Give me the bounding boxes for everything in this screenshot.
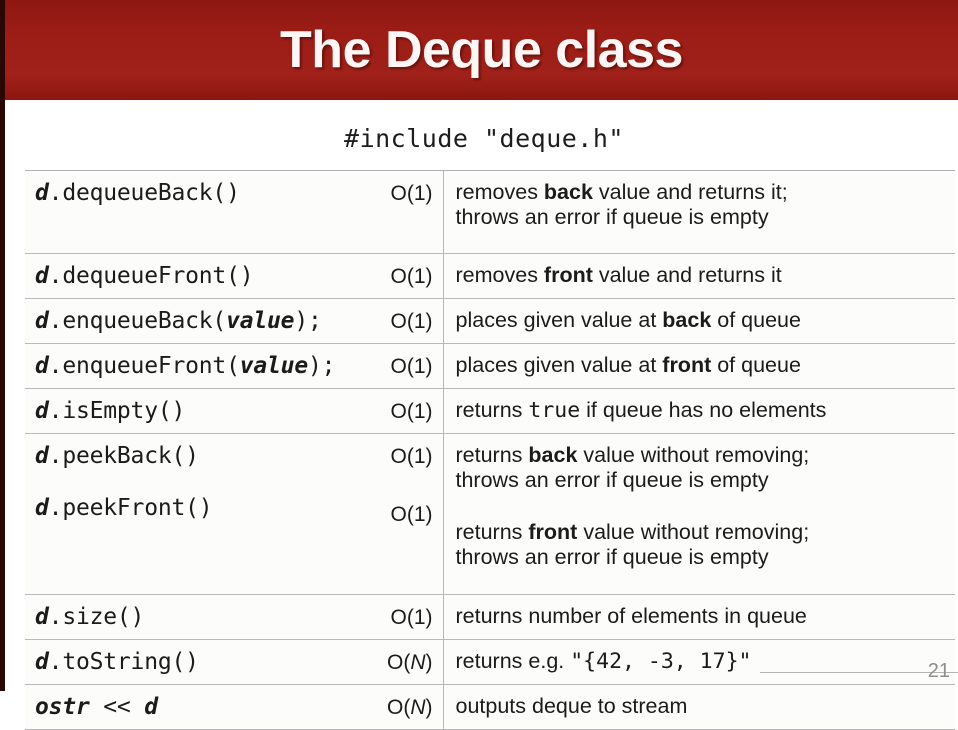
description-first: returns back value without removing;thro…: [456, 443, 950, 494]
complexity-arg: 1: [414, 606, 426, 629]
desc-text: returns: [456, 398, 529, 422]
complexity-arg: 1: [414, 503, 426, 526]
method-signature-cell: d.dequeueFront(): [25, 254, 355, 299]
complexity-cell: O(1): [355, 171, 443, 254]
member-separator: .: [49, 353, 63, 379]
complexity-suffix: ): [426, 310, 433, 333]
description-cell: returns e.g. "{42, -3, 17}": [443, 640, 955, 685]
desc-second-line: throws an error if queue is empty: [456, 205, 769, 229]
member-separator: .: [49, 649, 63, 675]
complexity-arg: 1: [414, 265, 426, 288]
member-name: size(): [62, 604, 144, 630]
member-name: enqueueFront(: [62, 353, 239, 379]
complexity-suffix: ): [426, 265, 433, 288]
complexity-prefix: O(: [387, 696, 410, 719]
desc-text-tail: if queue has no elements: [580, 398, 826, 422]
table-row: d.peekBack() d.peekFront() O(1) O(1) ret…: [25, 434, 955, 595]
table-row: d.enqueueBack(value); O(1) places given …: [25, 299, 955, 344]
receiver-name: d: [35, 353, 49, 379]
description-cell: returns true if queue has no elements: [443, 389, 955, 434]
description-second: returns front value without removing;thr…: [456, 520, 950, 571]
desc-text: removes: [456, 263, 544, 287]
table-body: d.dequeueBack() O(1) removes back value …: [25, 171, 955, 730]
method-signature-cell: d.size(): [25, 595, 355, 640]
table-row: d.isEmpty() O(1) returns true if queue h…: [25, 389, 955, 434]
complexity-arg: 1: [414, 400, 426, 423]
receiver-name: d: [35, 398, 49, 424]
table-row: d.toString() O(N) returns e.g. "{42, -3,…: [25, 640, 955, 685]
member-name: isEmpty(): [62, 398, 185, 424]
complexity-cell: O(1): [355, 299, 443, 344]
member-separator: .: [49, 263, 63, 289]
method-signature-cell: d.isEmpty(): [25, 389, 355, 434]
method-signature-cell: d.dequeueBack(): [25, 171, 355, 254]
description-cell: outputs deque to stream: [443, 685, 955, 730]
complexity-prefix: O(: [390, 310, 413, 333]
complexity-suffix: ): [426, 400, 433, 423]
desc-text-tail: value and returns it: [593, 263, 782, 287]
description-cell: removes front value and returns it: [443, 254, 955, 299]
method-signature-cell: d.enqueueBack(value);: [25, 299, 355, 344]
member-name: dequeueBack(): [62, 180, 239, 206]
desc-text: returns number of elements in queue: [456, 604, 807, 628]
include-directive: #include "deque.h": [5, 124, 958, 153]
description-gap: [456, 494, 950, 520]
description-cell: returns number of elements in queue: [443, 595, 955, 640]
member-name-tail: );: [308, 353, 335, 379]
desc-emphasis: back: [662, 308, 711, 332]
description-cell: places given value at back of queue: [443, 299, 955, 344]
desc-text: returns: [456, 443, 529, 467]
table-row: ostr << d O(N) outputs deque to stream: [25, 685, 955, 730]
desc-emphasis: front: [544, 263, 593, 287]
complexity-arg: 1: [414, 182, 426, 205]
description-cell: returns back value without removing;thro…: [443, 434, 955, 595]
member-name: toString(): [62, 649, 198, 675]
receiver-name: d: [35, 443, 49, 469]
method-signature-cell: ostr << d: [25, 685, 355, 730]
slide-content-area: #include "deque.h" d.dequeueBack() O(1) …: [0, 100, 958, 691]
desc-text: returns e.g.: [456, 649, 571, 673]
desc-second-line: throws an error if queue is empty: [456, 468, 769, 492]
member-separator: .: [49, 604, 63, 630]
receiver-name: d: [35, 604, 49, 630]
complexity-arg: 1: [414, 445, 426, 468]
complexity-arg: N: [410, 696, 425, 719]
member-separator: .: [49, 180, 63, 206]
receiver-name: ostr: [35, 694, 90, 720]
page-title: The Deque class: [280, 24, 683, 76]
receiver-name: d: [35, 263, 49, 289]
member-name: dequeueFront(): [62, 263, 253, 289]
desc-emphasis: front: [528, 520, 577, 544]
description-cell: removes back value and returns it;throws…: [443, 171, 955, 254]
receiver-name: d: [35, 649, 49, 675]
complexity-prefix: O(: [390, 182, 413, 205]
desc-emphasis: front: [662, 353, 711, 377]
parameter-name: value: [240, 353, 308, 379]
complexity-prefix: O(: [387, 651, 410, 674]
complexity-suffix: ): [426, 696, 433, 719]
desc-text-tail: of queue: [711, 353, 801, 377]
desc-emphasis: back: [528, 443, 577, 467]
method-signature-second: d.peekFront(): [35, 495, 355, 521]
parameter-name: value: [226, 308, 294, 334]
complexity-cell: O(1): [355, 254, 443, 299]
stream-operator: <<: [90, 694, 145, 720]
method-signature-cell: d.peekBack() d.peekFront(): [25, 434, 355, 595]
complexity-arg: 1: [414, 355, 426, 378]
complexity-cell: O(1): [355, 595, 443, 640]
table-row: d.enqueueFront(value); O(1) places given…: [25, 344, 955, 389]
description-cell: places given value at front of queue: [443, 344, 955, 389]
complexity-suffix: ): [426, 182, 433, 205]
complexity-first: O(1): [355, 445, 433, 469]
complexity-second: O(1): [355, 503, 433, 527]
desc-code-literal: true: [528, 398, 580, 423]
desc-code-literal: "{42, -3, 17}": [570, 649, 751, 674]
desc-text: returns: [456, 520, 529, 544]
complexity-suffix: ): [426, 503, 433, 526]
desc-text: outputs deque to stream: [456, 694, 688, 718]
complexity-arg: N: [410, 651, 425, 674]
complexity-cell: O(N): [355, 685, 443, 730]
complexity-prefix: O(: [390, 265, 413, 288]
receiver-name: d: [35, 308, 49, 334]
complexity-prefix: O(: [390, 445, 413, 468]
receiver-name: d: [35, 180, 49, 206]
complexity-prefix: O(: [390, 355, 413, 378]
desc-text-tail: of queue: [711, 308, 801, 332]
member-name: enqueueBack(: [62, 308, 226, 334]
method-signature-first: d.peekBack(): [35, 443, 355, 469]
member-name: peekBack(): [62, 443, 198, 469]
complexity-cell: O(1) O(1): [355, 434, 443, 595]
table-row: d.dequeueFront() O(1) removes front valu…: [25, 254, 955, 299]
complexity-prefix: O(: [390, 400, 413, 423]
signature-gap: [35, 469, 355, 495]
complexity-cell: O(1): [355, 344, 443, 389]
complexity-arg: 1: [414, 310, 426, 333]
desc-emphasis: back: [544, 180, 593, 204]
method-signature-cell: d.toString(): [25, 640, 355, 685]
desc-text: places given value at: [456, 353, 663, 377]
complexity-suffix: ): [426, 651, 433, 674]
deque-api-table: d.dequeueBack() O(1) removes back value …: [25, 170, 955, 730]
table-row: d.size() O(1) returns number of elements…: [25, 595, 955, 640]
member-separator: .: [49, 308, 63, 334]
member-name-tail: );: [294, 308, 321, 334]
complexity-suffix: ): [426, 355, 433, 378]
complexity-gap: [355, 469, 433, 503]
desc-text: removes: [456, 180, 544, 204]
desc-second-line: throws an error if queue is empty: [456, 545, 769, 569]
operand-name: d: [144, 694, 158, 720]
complexity-suffix: ): [426, 606, 433, 629]
member-separator: .: [49, 495, 63, 521]
complexity-prefix: O(: [390, 606, 413, 629]
desc-text-tail: value without removing;: [577, 520, 809, 544]
receiver-name: d: [35, 495, 49, 521]
complexity-cell: O(1): [355, 389, 443, 434]
member-name: peekFront(): [62, 495, 212, 521]
complexity-suffix: ): [426, 445, 433, 468]
complexity-cell: O(N): [355, 640, 443, 685]
slide-title-banner: The Deque class: [0, 0, 958, 100]
member-separator: .: [49, 398, 63, 424]
complexity-prefix: O(: [390, 503, 413, 526]
method-signature-cell: d.enqueueFront(value);: [25, 344, 355, 389]
desc-text: places given value at: [456, 308, 663, 332]
desc-text-tail: value without removing;: [577, 443, 809, 467]
page-number: 21: [928, 660, 950, 683]
member-separator: .: [49, 443, 63, 469]
desc-text-tail: value and returns it;: [593, 180, 788, 204]
table-row: d.dequeueBack() O(1) removes back value …: [25, 171, 955, 254]
